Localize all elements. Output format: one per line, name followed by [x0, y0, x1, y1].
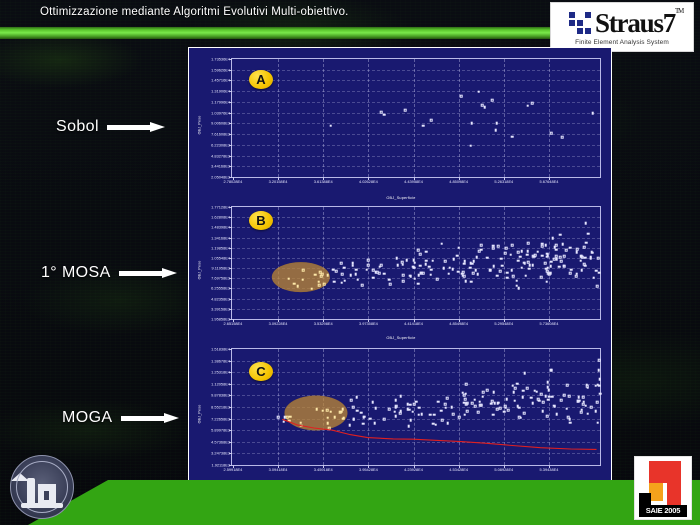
scatter-point	[408, 408, 411, 411]
scatter-point	[408, 425, 411, 428]
scatter-point	[287, 278, 290, 281]
scatter-point	[596, 401, 599, 404]
scatter-point	[330, 411, 333, 414]
scatter-point	[560, 399, 563, 402]
scatter-point	[490, 402, 493, 405]
scatter-point	[507, 409, 510, 412]
scatter-point	[583, 246, 586, 249]
scatter-point	[565, 407, 568, 410]
scatter-point	[598, 378, 601, 381]
scatter-point	[594, 410, 597, 413]
scatter-point	[362, 416, 365, 419]
chart-panel-c: OBJ_Peso 1.51838E41.38678E41.25318E41.12…	[189, 340, 613, 488]
annotation-moga: MOGA	[62, 409, 179, 427]
scatter-point	[329, 124, 332, 127]
scatter-point	[317, 280, 320, 283]
scatter-point	[492, 265, 495, 268]
scatter-point	[444, 406, 447, 409]
scatter-point	[415, 400, 418, 403]
scatter-point	[490, 269, 493, 272]
scatter-point	[396, 264, 399, 267]
x-axis-tick-mark	[504, 319, 505, 322]
grid-line-horizontal	[232, 123, 600, 124]
scatter-point	[350, 399, 353, 402]
scatter-point	[496, 408, 499, 411]
scatter-point	[372, 277, 375, 280]
scatter-point	[328, 427, 331, 430]
scatter-point	[504, 252, 507, 255]
scatter-point	[458, 416, 461, 419]
scatter-point	[326, 274, 329, 277]
scatter-point	[500, 257, 503, 260]
y-axis-tick-label: 4.57368E3	[211, 439, 230, 444]
university-seal-logo	[10, 455, 74, 519]
scatter-point	[497, 402, 500, 405]
scatter-point	[544, 244, 547, 247]
scatter-point	[497, 245, 500, 248]
scatter-point	[402, 264, 405, 267]
scatter-point	[413, 277, 416, 280]
grid-line-horizontal	[232, 442, 600, 443]
scatter-point	[471, 262, 474, 265]
scatter-point	[405, 259, 408, 262]
y-axis-tick-label: 1.77128E4	[211, 205, 230, 210]
scatter-point	[470, 281, 473, 284]
x-axis-tick-mark	[323, 319, 324, 322]
scatter-point	[555, 258, 558, 261]
scatter-point	[469, 144, 472, 147]
scatter-point	[326, 422, 329, 425]
scatter-point	[355, 268, 358, 271]
y-axis-tick-mark	[229, 319, 232, 320]
straus7-name: Straus7	[595, 8, 675, 38]
scatter-point	[547, 398, 550, 401]
scatter-point	[436, 278, 439, 281]
scatter-point	[380, 264, 383, 267]
scatter-point	[466, 410, 469, 413]
scatter-point	[289, 416, 292, 419]
y-axis-tick-label: 1.25318E4	[211, 370, 230, 375]
y-axis-tick-mark	[229, 177, 232, 178]
scatter-point	[477, 411, 480, 414]
scatter-point	[412, 259, 415, 262]
scatter-point	[395, 406, 398, 409]
grid-line-vertical	[323, 207, 324, 319]
scatter-point	[444, 260, 447, 263]
x-axis-tick-mark	[278, 465, 279, 468]
scatter-point	[460, 95, 463, 98]
scatter-point	[562, 243, 565, 246]
scatter-point	[531, 402, 534, 405]
scatter-point	[399, 412, 402, 415]
scatter-point	[389, 283, 392, 286]
scatter-point	[592, 276, 595, 279]
scatter-point	[339, 411, 342, 414]
scatter-point	[478, 91, 481, 94]
grid-line-horizontal	[232, 258, 600, 259]
scatter-point	[340, 281, 343, 284]
scatter-point	[515, 285, 518, 288]
scatter-point	[559, 233, 562, 236]
scatter-point	[314, 273, 317, 276]
straus7-wordmark: Straus7 TM	[595, 10, 675, 37]
scatter-point	[592, 251, 595, 254]
scatter-point	[463, 263, 466, 266]
scatter-point	[517, 287, 520, 290]
scatter-point	[541, 410, 544, 413]
scatter-point	[523, 372, 526, 375]
straus7-logo-row: Straus7 TM	[569, 8, 675, 38]
y-axis-tick-label: 1.31906E4	[211, 89, 230, 94]
scatter-point	[293, 282, 296, 285]
y-axis-tick-label: 4.83278E3	[211, 153, 230, 158]
scatter-point	[580, 411, 583, 414]
scatter-point	[409, 403, 412, 406]
scatter-point	[452, 268, 455, 271]
scatter-point	[570, 268, 573, 271]
scatter-point	[419, 264, 422, 267]
x-axis-tick-mark	[278, 177, 279, 180]
scatter-point	[482, 391, 485, 394]
chart-a-ylabel: OBJ_Peso	[197, 116, 201, 135]
scatter-point	[492, 247, 495, 250]
scatter-point	[367, 264, 370, 267]
scatter-point	[569, 272, 572, 275]
scatter-point	[546, 280, 549, 283]
y-axis-tick-label: 1.19858E4	[211, 245, 230, 250]
scatter-point	[549, 265, 552, 268]
y-axis-tick-label: 1.34168E4	[211, 235, 230, 240]
chart-c-ylabel: OBJ_Peso	[197, 405, 201, 424]
scatter-point	[463, 413, 466, 416]
scatter-point	[586, 412, 589, 415]
scatter-point	[553, 404, 556, 407]
scatter-point	[596, 421, 599, 424]
scatter-point	[388, 408, 391, 411]
scatter-point	[514, 387, 517, 390]
scatter-point	[441, 419, 444, 422]
scatter-point	[499, 270, 502, 273]
scatter-point	[597, 257, 600, 260]
grid-line-horizontal	[232, 238, 600, 239]
slide-title: Ottimizzazione mediante Algoritmi Evolut…	[40, 6, 349, 18]
scatter-point	[395, 415, 398, 418]
scatter-point	[506, 271, 509, 274]
slide-root: Ottimizzazione mediante Algoritmi Evolut…	[0, 0, 700, 525]
grid-line-horizontal	[232, 102, 600, 103]
scatter-point	[598, 272, 601, 275]
y-axis-tick-label: 1.17996E4	[211, 99, 230, 104]
y-axis-tick-mark	[229, 59, 232, 60]
scatter-point	[499, 407, 502, 410]
scatter-point	[456, 254, 459, 257]
scatter-point	[511, 135, 514, 138]
scatter-point	[526, 387, 529, 390]
scatter-point	[341, 273, 344, 276]
saie-logo: SAIE 2005	[634, 456, 692, 520]
scatter-point	[577, 400, 580, 403]
scatter-point	[563, 265, 566, 268]
scatter-point	[374, 407, 377, 410]
scatter-point	[598, 359, 601, 362]
scatter-point	[559, 256, 562, 259]
scatter-point	[322, 410, 325, 413]
y-axis-tick-label: 1.62808E4	[211, 215, 230, 220]
x-axis-tick-mark	[504, 465, 505, 468]
scatter-point	[486, 256, 489, 259]
scatter-point	[349, 274, 352, 277]
scatter-point	[318, 284, 321, 287]
y-axis-tick-label: 1.12058E4	[211, 381, 230, 386]
scatter-point	[404, 109, 407, 112]
scatter-point	[413, 403, 416, 406]
scatter-point	[355, 396, 358, 399]
scatter-point	[548, 273, 551, 276]
x-axis-tick-mark	[549, 177, 550, 180]
scatter-point	[482, 395, 485, 398]
scatter-point	[555, 248, 558, 251]
scatter-point	[513, 399, 516, 402]
chart-a-badge: A	[249, 70, 273, 89]
scatter-point	[542, 401, 545, 404]
scatter-point	[540, 276, 543, 279]
scatter-point	[447, 272, 450, 275]
straus7-tm: TM	[675, 8, 683, 15]
scatter-point	[505, 247, 508, 250]
scatter-point	[569, 246, 572, 249]
chart-b-ylabel: OBJ_Peso	[197, 261, 201, 280]
scatter-point	[383, 272, 386, 275]
arrow-right-icon	[121, 413, 179, 423]
scatter-point	[479, 404, 482, 407]
scatter-point	[575, 272, 578, 275]
scatter-point	[414, 261, 417, 264]
scatter-point	[541, 245, 544, 248]
scatter-point	[282, 420, 285, 423]
scatter-point	[495, 122, 498, 125]
scatter-point	[476, 256, 479, 259]
x-axis-tick-mark	[414, 319, 415, 322]
scatter-point	[579, 259, 582, 262]
grid-line-horizontal	[232, 453, 600, 454]
straus7-logo: Straus7 TM Finite Element Analysis Syste…	[550, 2, 694, 52]
scatter-point	[516, 382, 519, 385]
scatter-point	[431, 260, 434, 263]
scatter-point	[395, 257, 398, 260]
scatter-point	[520, 267, 523, 270]
scatter-point	[595, 269, 598, 272]
grid-line-vertical	[278, 207, 279, 319]
scatter-point	[458, 247, 461, 250]
scatter-point	[369, 417, 372, 420]
scatter-point	[342, 416, 345, 419]
grid-line-horizontal	[232, 145, 600, 146]
x-axis-tick-mark	[504, 177, 505, 180]
scatter-point	[417, 282, 420, 285]
scatter-point	[597, 369, 600, 372]
scatter-point	[567, 416, 570, 419]
grid-line-vertical	[459, 349, 460, 465]
scatter-point	[424, 263, 427, 266]
header-green-band	[0, 27, 616, 39]
scatter-point	[476, 273, 479, 276]
scatter-point	[575, 275, 578, 278]
scatter-point	[371, 401, 374, 404]
grid-line-horizontal	[232, 248, 600, 249]
chart-c-plot-area: 1.51838E41.38678E41.25318E41.12058E49.87…	[231, 348, 601, 466]
grid-line-horizontal	[232, 299, 600, 300]
scatter-point	[511, 244, 514, 247]
y-axis-tick-label: 3.24738E3	[211, 451, 230, 456]
scatter-point	[457, 270, 460, 273]
grid-line-vertical	[459, 59, 460, 177]
scatter-point	[501, 265, 504, 268]
scatter-point	[452, 413, 455, 416]
grid-line-horizontal	[232, 134, 600, 135]
scatter-point	[576, 251, 579, 254]
scatter-point	[506, 276, 509, 279]
scatter-point	[365, 268, 368, 271]
scatter-point	[586, 385, 589, 388]
scatter-point	[526, 253, 529, 256]
y-axis-tick-label: 7.69758E3	[211, 276, 230, 281]
scatter-point	[484, 106, 487, 109]
x-axis-tick-mark	[278, 319, 279, 322]
y-axis-tick-mark	[229, 465, 232, 466]
scatter-point	[474, 269, 477, 272]
scatter-point	[352, 406, 355, 409]
scatter-point	[343, 266, 346, 269]
scatter-point	[353, 418, 356, 421]
scatter-point	[299, 422, 302, 425]
scatter-point	[546, 386, 549, 389]
grid-line-horizontal	[232, 372, 600, 373]
scatter-point	[596, 384, 599, 387]
scatter-point	[300, 424, 303, 427]
chart-b-plot-area: 1.77128E41.62808E41.48398E41.34168E41.19…	[231, 206, 601, 320]
y-axis-tick-label: 1.59626E4	[211, 67, 230, 72]
straus7-grid-icon	[569, 12, 591, 34]
scatter-point	[587, 232, 590, 235]
scatter-point	[544, 262, 547, 265]
scatter-point	[402, 280, 405, 283]
scatter-point	[474, 405, 477, 408]
grid-line-vertical	[368, 349, 369, 465]
grid-line-horizontal	[232, 166, 600, 167]
scatter-point	[342, 408, 345, 411]
chart-panel-b: OBJ_Peso 1.77128E41.62808E41.48398E41.34…	[189, 200, 613, 340]
scatter-point	[360, 411, 363, 414]
scatter-point	[362, 422, 365, 425]
grid-line-vertical	[368, 207, 369, 319]
grid-line-vertical	[323, 59, 324, 177]
y-axis-tick-label: 7.61608E3	[211, 132, 230, 137]
scatter-point	[411, 410, 414, 413]
scatter-point	[462, 275, 465, 278]
grid-line-horizontal	[232, 227, 600, 228]
scatter-point	[536, 250, 539, 253]
scatter-point	[430, 269, 433, 272]
x-axis-tick-mark	[414, 465, 415, 468]
scatter-point	[492, 391, 495, 394]
chart-panel-a: OBJ_Peso 1.73536E41.59626E41.45716E41.31…	[189, 50, 613, 200]
scatter-point	[517, 251, 520, 254]
scatter-point	[522, 396, 525, 399]
y-axis-tick-label: 6.25558E3	[211, 286, 230, 291]
scatter-point	[472, 260, 475, 263]
scatter-point	[430, 119, 433, 122]
x-axis-tick-mark	[368, 465, 369, 468]
scatter-point	[585, 241, 588, 244]
y-axis-tick-label: 1.05548E4	[211, 255, 230, 260]
scatter-point	[548, 389, 551, 392]
scatter-point	[563, 394, 566, 397]
scatter-point	[434, 423, 437, 426]
scatter-point	[580, 269, 583, 272]
scatter-point	[509, 253, 512, 256]
scatter-point	[524, 274, 527, 277]
scatter-point	[522, 389, 525, 392]
chart-b-badge: B	[249, 211, 273, 230]
scatter-point	[580, 255, 583, 258]
scatter-point	[549, 369, 552, 372]
scatter-point	[566, 384, 569, 387]
scatter-point	[442, 267, 445, 270]
scatter-point	[470, 122, 473, 125]
x-axis-tick-mark	[323, 465, 324, 468]
scatter-point	[599, 392, 602, 395]
scatter-point	[419, 253, 422, 256]
scatter-point	[544, 395, 547, 398]
charts-panel: OBJ_Peso 1.73536E41.59626E41.45716E41.31…	[188, 47, 612, 489]
grid-line-vertical	[278, 349, 279, 465]
scatter-point	[333, 416, 336, 419]
grid-line-horizontal	[232, 361, 600, 362]
scatter-point	[432, 423, 435, 426]
scatter-point	[301, 279, 304, 282]
scatter-point	[357, 278, 360, 281]
scatter-point	[550, 260, 553, 263]
grid-line-vertical	[459, 207, 460, 319]
x-axis-tick-mark	[368, 177, 369, 180]
y-axis-tick-label: 1.73536E4	[211, 57, 230, 62]
scatter-point	[546, 415, 549, 418]
scatter-point	[425, 251, 428, 254]
y-axis-tick-label: 1.03976E4	[211, 110, 230, 115]
scatter-point	[553, 246, 556, 249]
scatter-point	[383, 418, 386, 421]
scatter-point	[417, 249, 420, 252]
scatter-point	[516, 405, 519, 408]
scatter-point	[402, 274, 405, 277]
x-axis-tick-mark	[549, 465, 550, 468]
scatter-point	[589, 257, 592, 260]
arrow-right-icon	[107, 122, 165, 132]
scatter-point	[517, 259, 520, 262]
scatter-point	[335, 270, 338, 273]
scatter-point	[449, 267, 452, 270]
grid-line-horizontal	[232, 70, 600, 71]
scatter-point	[530, 396, 533, 399]
scatter-point	[584, 265, 587, 268]
scatter-point	[437, 400, 440, 403]
scatter-point	[315, 408, 318, 411]
scatter-point	[429, 414, 432, 417]
y-axis-tick-label: 8.55218E3	[211, 405, 230, 410]
grid-line-horizontal	[232, 91, 600, 92]
y-axis-tick-label: 7.22658E3	[211, 416, 230, 421]
scatter-point	[480, 248, 483, 251]
